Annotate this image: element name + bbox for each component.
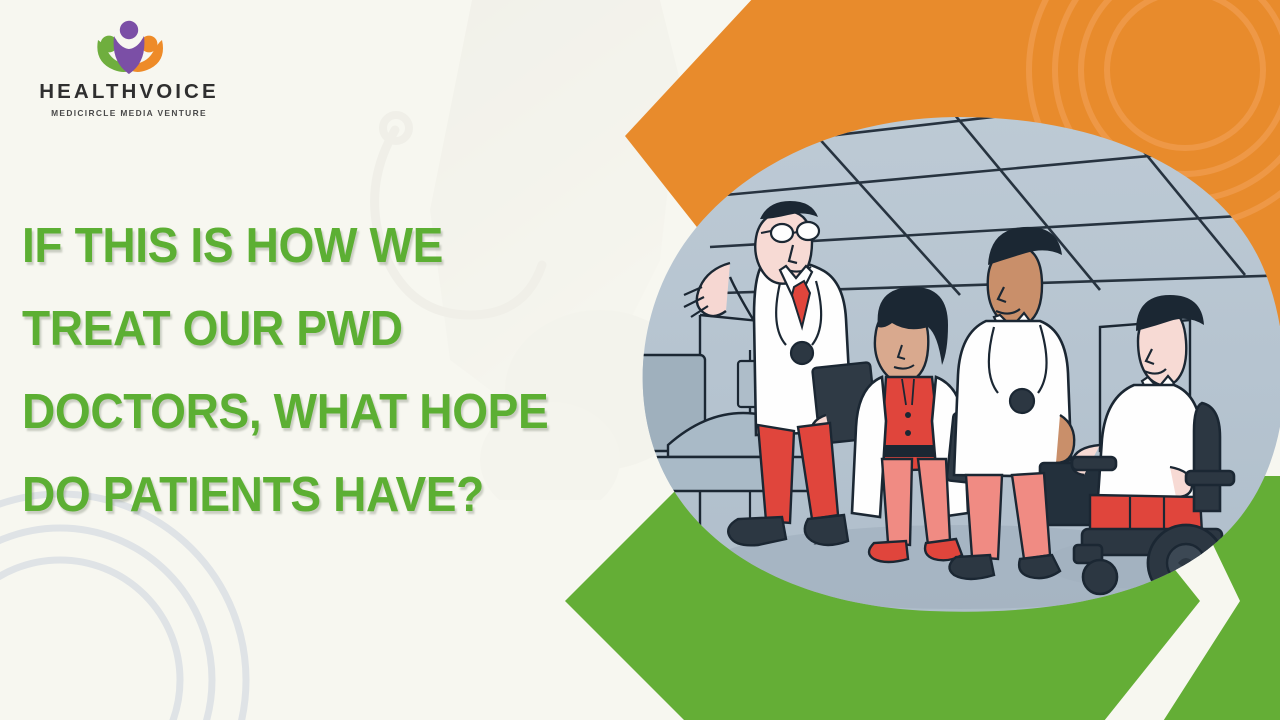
poster-canvas: HEALTHVOICE MEDICIRCLE MEDIA VENTURE IF …	[0, 0, 1280, 720]
logo-wordmark: HEALTHVOICE	[24, 82, 234, 103]
headline-line-3: DOCTORS, WHAT HOPE	[22, 371, 624, 454]
three-people-icon	[92, 18, 166, 76]
hospital-corridor-doctors-illustration	[630, 115, 1280, 615]
brand-logo[interactable]: HEALTHVOICE MEDICIRCLE MEDIA VENTURE	[24, 18, 234, 118]
headline-line-1: IF THIS IS HOW WE	[22, 205, 624, 288]
headline-line-2: TREAT OUR PWD	[22, 288, 624, 371]
headline-line-4: DO PATIENTS HAVE?	[22, 454, 624, 537]
logo-tagline: MEDICIRCLE MEDIA VENTURE	[24, 108, 234, 118]
headline: IF THIS IS HOW WE TREAT OUR PWD DOCTORS,…	[22, 205, 662, 537]
